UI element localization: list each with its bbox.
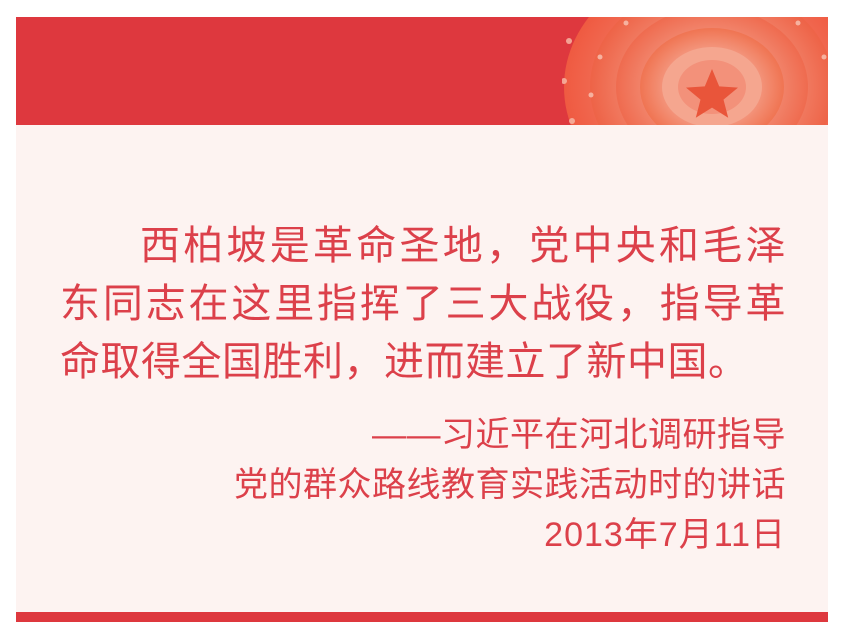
star-icon [686,69,738,118]
radiating-star-emblem-icon [562,17,828,125]
bottom-rule-divider [16,612,828,622]
attribution-line-2: 党的群众路线教育实践活动时的讲话 [60,460,786,510]
header-banner [16,17,828,125]
attribution-line-1: ——习近平在河北调研指导 [60,410,786,460]
quote-slide: 西柏坡是革命圣地，党中央和毛泽东同志在这里指挥了三大战役，指导革命取得全国胜利，… [16,17,828,622]
quote-paragraph: 西柏坡是革命圣地，党中央和毛泽东同志在这里指挥了三大战役，指导革命取得全国胜利，… [60,217,786,391]
quote-body: 西柏坡是革命圣地，党中央和毛泽东同志在这里指挥了三大战役，指导革命取得全国胜利，… [16,125,828,622]
attribution-block: ——习近平在河北调研指导 党的群众路线教育实践活动时的讲话 2013年7月11日 [60,410,786,560]
attribution-date: 2013年7月11日 [60,510,786,560]
